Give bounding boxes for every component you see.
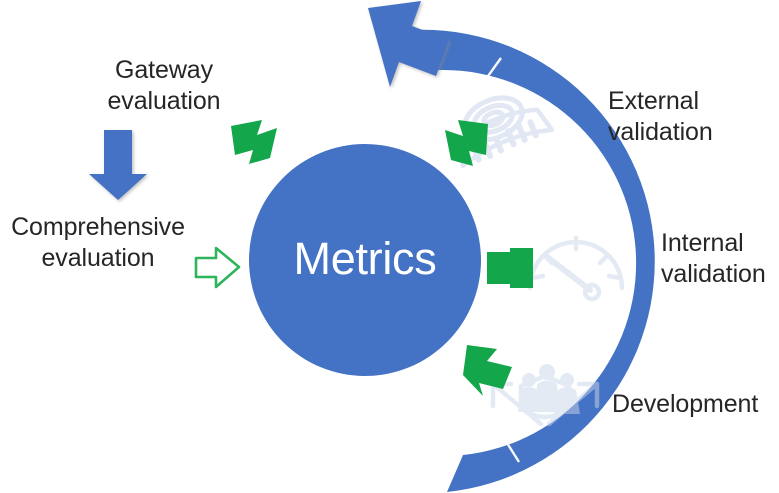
label-development: Development: [612, 389, 779, 420]
label-comprehensive-evaluation: Comprehensive evaluation: [0, 212, 196, 274]
green-arrow-left-icon: [487, 248, 533, 288]
green-arrow-up-left-icon: [463, 345, 512, 396]
green-arrow-down-right-icon: [231, 120, 277, 164]
label-gateway-evaluation: Gateway evaluation: [84, 55, 244, 117]
gauge-watermark-icon: [530, 238, 622, 299]
right-arrow-outline-icon: [196, 248, 239, 287]
down-arrow-icon: [89, 130, 147, 200]
label-internal-validation: Internal validation: [661, 228, 779, 290]
label-external-validation: External validation: [608, 86, 779, 148]
arc-arrowhead-icon: [368, 1, 449, 87]
gateway-down-arrow: [89, 130, 147, 200]
comprehensive-right-arrow: [196, 248, 239, 287]
diagram-canvas: Gateway evaluation Comprehensive evaluat…: [0, 0, 779, 493]
metrics-circle: [249, 144, 481, 376]
